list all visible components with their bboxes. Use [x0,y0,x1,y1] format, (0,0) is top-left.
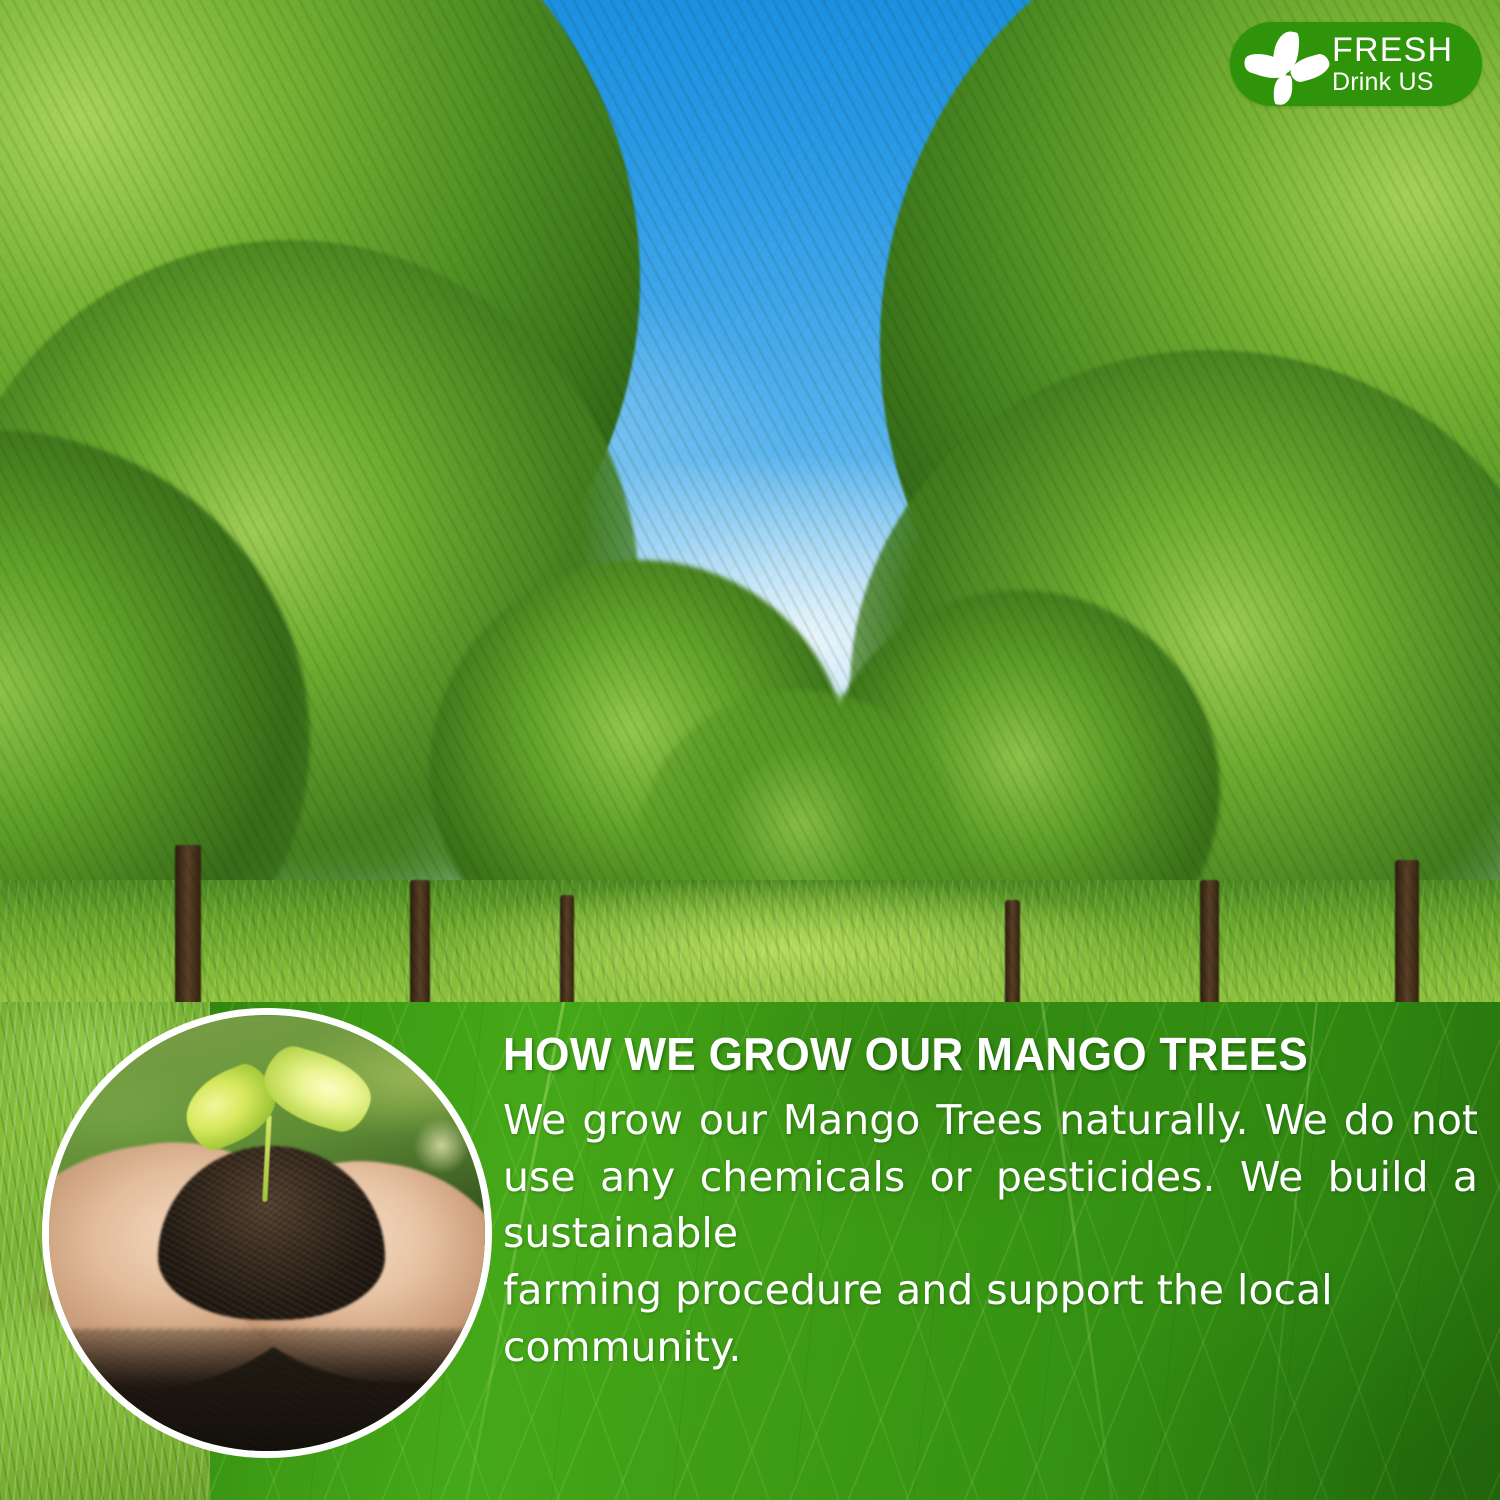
panel-text-block: HOW WE GROW OUR MANGO TREES We grow our … [503,1030,1478,1375]
tree-trunk-1 [175,845,201,1025]
four-leaf-flower-icon [1242,27,1328,101]
leaf-petal-bottom [1272,74,1293,106]
panel-body-last-line: farming procedure and support the local … [503,1262,1478,1375]
tree-trunk-3 [560,895,574,1005]
tree-trunk-6 [1395,860,1419,1020]
tree-trunk-5 [1200,880,1219,1010]
tree-trunk-2 [410,880,430,1020]
brand-logo-text: FRESH Drink US [1332,33,1453,95]
promotional-image: HOW WE GROW OUR MANGO TREES We grow our … [0,0,1500,1500]
brand-logo-badge[interactable]: FRESH Drink US [1230,22,1482,106]
brand-tagline: Drink US [1332,70,1453,95]
panel-body-text: We grow our Mango Trees naturally. We do… [503,1092,1478,1375]
soil-ground-foreground [42,1329,492,1458]
tree-trunk-4 [1005,900,1020,1005]
seedling-circle-photo [42,1008,492,1458]
panel-body-paragraph: We grow our Mango Trees naturally. We do… [503,1096,1478,1257]
panel-heading: HOW WE GROW OUR MANGO TREES [503,1030,1439,1078]
brand-name: FRESH [1332,33,1453,67]
